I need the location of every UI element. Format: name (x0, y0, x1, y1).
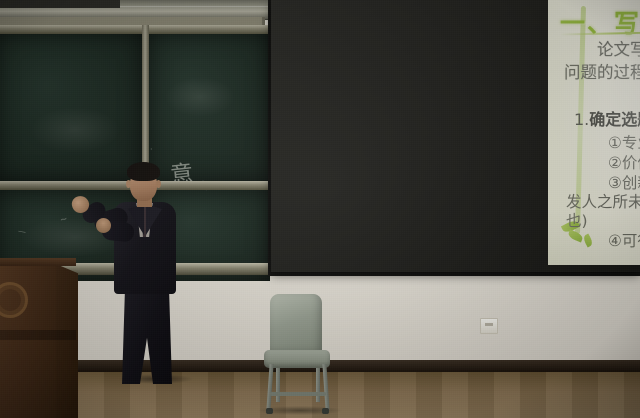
chair-foot-rail (270, 392, 326, 396)
chair-seat (264, 350, 330, 368)
projection-screen: 一、写作的四大要素 论文写作即是发现问题、分析问题、解决问题的过程。 1.确定选… (548, 0, 640, 265)
chair-leg-back-right (316, 362, 320, 402)
slide-subitem: ③创新性(角度新、材料新、观点新； (608, 173, 640, 193)
slide-item-number: 1. (574, 110, 589, 129)
chair-foot-left (266, 408, 273, 414)
slide-subitem-continued: 也) (566, 211, 640, 231)
ceiling-dark-patch (0, 0, 120, 8)
lecturer-ear-right (156, 180, 161, 188)
projection-screen-frame: 一、写作的四大要素 论文写作即是发现问题、分析问题、解决问题的过程。 1.确定选… (271, 0, 640, 272)
leaf-icon (567, 229, 584, 242)
slide-item-1: 1.确定选题(论述的主要问题) (574, 110, 640, 131)
lecturer-legs (122, 288, 172, 384)
podium (0, 258, 78, 418)
lecturer-ear-left (126, 180, 131, 188)
slide-subitem: ④可行性 (608, 231, 640, 251)
chair-backrest (270, 294, 322, 356)
plastic-chair (262, 294, 336, 414)
podium-trim-band (0, 330, 76, 340)
slide-item-heading: 确定选题 (589, 110, 640, 129)
lecturer-hair (127, 162, 160, 181)
slide-paragraph: 论文写作即是发现问题、分析问题、解决问题的过程。 (564, 38, 640, 85)
slide-subitem: ①专业性 (608, 133, 640, 153)
wall-outlet-plate (480, 318, 498, 334)
chair-leg-back-left (276, 362, 280, 402)
chalk-smudge (30, 107, 120, 153)
chair-leg-front-right (322, 364, 329, 410)
chair-foot-right (322, 408, 329, 414)
slide-subitem: ②价值性 (608, 153, 640, 173)
leaf-icon (582, 234, 594, 248)
slide-subitem-continued: 发人之所未发；发人之所已发而意犹未尽 (566, 192, 640, 212)
chalkboard-rail-top (0, 25, 270, 34)
chair-leg-front-left (266, 364, 273, 410)
chalk-smudge (165, 77, 235, 117)
podium-side-panel (56, 264, 78, 418)
lecturer (78, 160, 208, 380)
podium-top-surface (0, 258, 76, 266)
lecture-hall-photo: 意 义 · ~ — 一、写作的四大要素 论文写作即是发现问题、分析问题、解决问题… (0, 0, 640, 418)
